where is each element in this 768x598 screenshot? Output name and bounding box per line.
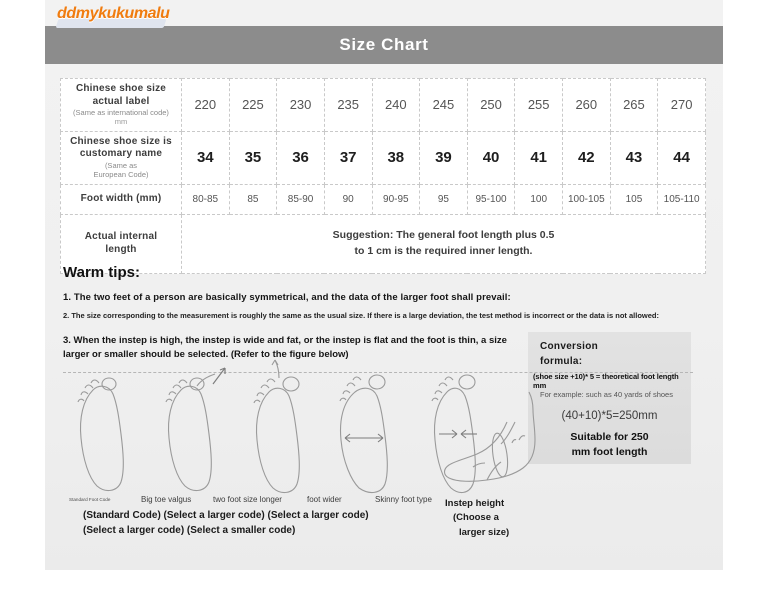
- cell-width-8: 100-105: [563, 184, 611, 214]
- row-label-actual-label: Chinese shoe size actual label (Same as …: [61, 79, 182, 132]
- conversion-suitable-line1: Suitable for 250: [570, 431, 648, 443]
- foot-side-profile: [445, 392, 536, 481]
- row-label-foot-width: Foot width (mm): [61, 184, 182, 214]
- cell-width-1: 85: [229, 184, 277, 214]
- figure-code-advice: (Standard Code) (Select a larger code) (…: [83, 508, 443, 538]
- cell-mm-8: 260: [563, 79, 611, 132]
- caption-standard: Standard Foot Code: [69, 497, 110, 502]
- cell-width-0: 80-85: [182, 184, 230, 214]
- cell-width-4: 90-95: [372, 184, 420, 214]
- cell-mm-2: 230: [277, 79, 325, 132]
- cell-eu-1: 35: [229, 131, 277, 184]
- size-table-container: Chinese shoe size actual label (Same as …: [60, 78, 706, 274]
- table-row: Foot width (mm) 80-85 85 85-90 90 90-95 …: [61, 184, 706, 214]
- row-label-line2: customary name: [65, 148, 177, 161]
- cell-mm-1: 225: [229, 79, 277, 132]
- foot-diagram: [63, 322, 563, 507]
- warm-tip-1: 1. The two feet of a person are basicall…: [63, 292, 683, 303]
- cell-width-3: 90: [324, 184, 372, 214]
- caption-big-toe-valgus: Big toe valgus: [141, 495, 191, 504]
- row-label-line1: Chinese shoe size is: [65, 136, 177, 149]
- foot-outline-longer: [254, 360, 299, 493]
- arrow-wider: [345, 434, 383, 442]
- row-label-sub: (Same as international code): [65, 108, 177, 117]
- content-card: Size Chart ddmykukumalu Chinese shoe siz…: [45, 0, 723, 570]
- table-row: Actual internal length Suggestion: The g…: [61, 214, 706, 273]
- instep-line1: Instep height: [445, 498, 504, 509]
- cell-width-2: 85-90: [277, 184, 325, 214]
- cell-mm-7: 255: [515, 79, 563, 132]
- row-label-customary-name: Chinese shoe size is customary name (Sam…: [61, 131, 182, 184]
- cell-width-7: 100: [515, 184, 563, 214]
- row-label-line2: length: [65, 244, 177, 257]
- cell-eu-9: 43: [610, 131, 658, 184]
- cell-width-10: 105-110: [658, 184, 706, 214]
- brand-logo: ddmykukumalu: [35, 0, 175, 38]
- instep-line2: (Choose a: [445, 511, 565, 525]
- cell-eu-8: 42: [563, 131, 611, 184]
- row-label-line2: actual label: [65, 96, 177, 109]
- caption-skinny-foot: Skinny foot type: [375, 495, 432, 504]
- row-label-line1: Chinese shoe size: [65, 83, 177, 96]
- cell-eu-0: 34: [182, 131, 230, 184]
- size-chart-page: Size Chart ddmykukumalu Chinese shoe siz…: [0, 0, 768, 598]
- cell-mm-9: 265: [610, 79, 658, 132]
- cell-mm-4: 240: [372, 79, 420, 132]
- figure-code-line1: (Standard Code) (Select a larger code) (…: [83, 510, 369, 521]
- foot-outline-wider: [340, 375, 387, 493]
- cell-eu-2: 36: [277, 131, 325, 184]
- warm-tips-title: Warm tips:: [63, 264, 140, 281]
- figure-code-line2: (Select a larger code) (Select a smaller…: [83, 525, 295, 536]
- arrow-valgus: [213, 368, 225, 384]
- foot-outline-big-toe-valgus: [166, 374, 215, 491]
- cell-eu-7: 41: [515, 131, 563, 184]
- row-label-unit: mm: [65, 117, 177, 126]
- cell-mm-6: 250: [467, 79, 515, 132]
- conversion-suitable-line2: mm foot length: [572, 446, 648, 458]
- row-label-line1: Actual internal: [65, 231, 177, 244]
- logo-text: ddmykukumalu: [57, 5, 170, 23]
- cell-mm-3: 235: [324, 79, 372, 132]
- arrow-skinny: [439, 430, 477, 438]
- cell-eu-10: 44: [658, 131, 706, 184]
- row-label-sub2: European Code): [65, 170, 177, 179]
- table-row: Chinese shoe size actual label (Same as …: [61, 79, 706, 132]
- cell-mm-0: 220: [182, 79, 230, 132]
- caption-two-foot-longer: two foot size longer: [213, 495, 282, 504]
- caption-foot-wider: foot wider: [307, 495, 342, 504]
- row-label-line1: Foot width (mm): [65, 193, 177, 206]
- size-table: Chinese shoe size actual label (Same as …: [60, 78, 706, 274]
- cell-eu-4: 38: [372, 131, 420, 184]
- table-row: Chinese shoe size is customary name (Sam…: [61, 131, 706, 184]
- cell-eu-6: 40: [467, 131, 515, 184]
- foot-outline-standard: [78, 378, 123, 491]
- warm-tip-2: 2. The size corresponding to the measure…: [63, 311, 693, 321]
- cell-eu-5: 39: [420, 131, 468, 184]
- cell-eu-3: 37: [324, 131, 372, 184]
- suggestion-cell: Suggestion: The general foot length plus…: [182, 214, 706, 273]
- instep-line3: larger size): [445, 526, 565, 540]
- row-label-sub: (Same as: [65, 161, 177, 170]
- cell-mm-10: 270: [658, 79, 706, 132]
- cell-width-6: 95-100: [467, 184, 515, 214]
- cell-mm-5: 245: [420, 79, 468, 132]
- cell-width-5: 95: [420, 184, 468, 214]
- cell-width-9: 105: [610, 184, 658, 214]
- instep-height-caption: Instep height (Choose a larger size): [445, 497, 565, 540]
- suggestion-line2: to 1 cm is the required inner length.: [355, 245, 533, 257]
- suggestion-line1: Suggestion: The general foot length plus…: [333, 229, 555, 241]
